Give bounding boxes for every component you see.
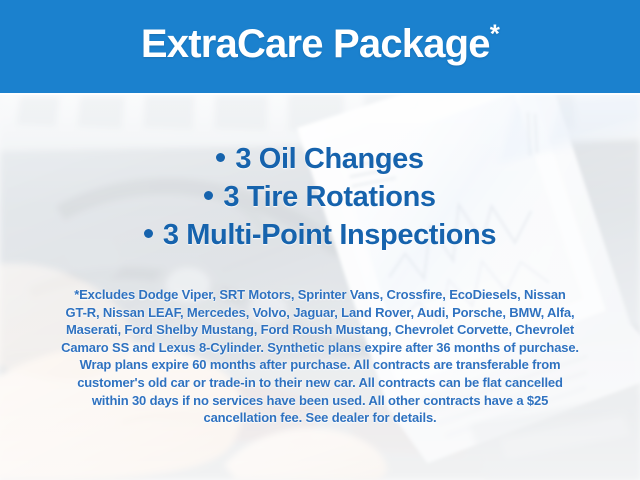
- disclaimer-text: *Excludes Dodge Viper, SRT Motors, Sprin…: [22, 286, 618, 427]
- benefit-item: 3 Oil Changes: [0, 140, 640, 178]
- page-title-text: ExtraCare Package: [141, 22, 490, 66]
- disclaimer-line: cancellation fee. See dealer for details…: [22, 409, 618, 427]
- disclaimer-line: Wrap plans expire 60 months after purcha…: [22, 356, 618, 374]
- extracare-promo-banner: ExtraCare Package* 3 Oil Changes 3 Tire …: [0, 0, 640, 480]
- benefit-item-label: 3 Multi-Point Inspections: [163, 219, 496, 251]
- bullet-dot-icon: [204, 191, 213, 200]
- disclaimer-line: Maserati, Ford Shelby Mustang, Ford Rous…: [22, 321, 618, 339]
- header-band: ExtraCare Package*: [0, 0, 640, 93]
- benefit-item-label: 3 Oil Changes: [235, 143, 423, 175]
- page-title: ExtraCare Package*: [141, 24, 499, 64]
- disclaimer-line: *Excludes Dodge Viper, SRT Motors, Sprin…: [22, 286, 618, 304]
- page-title-asterisk: *: [490, 18, 499, 48]
- disclaimer-line: within 30 days if no services have been …: [22, 392, 618, 410]
- header-divider: [0, 93, 640, 95]
- bullet-dot-icon: [144, 229, 153, 238]
- disclaimer-line: GT-R, Nissan LEAF, Mercedes, Volvo, Jagu…: [22, 304, 618, 322]
- benefit-item: 3 Multi-Point Inspections: [0, 216, 640, 254]
- benefit-item-label: 3 Tire Rotations: [223, 181, 435, 213]
- benefit-item: 3 Tire Rotations: [0, 178, 640, 216]
- bullet-dot-icon: [216, 153, 225, 162]
- disclaimer-line: Camaro SS and Lexus 8-Cylinder. Syntheti…: [22, 339, 618, 357]
- disclaimer-line: customer's old car or trade-in to their …: [22, 374, 618, 392]
- benefits-list: 3 Oil Changes 3 Tire Rotations 3 Multi-P…: [0, 140, 640, 254]
